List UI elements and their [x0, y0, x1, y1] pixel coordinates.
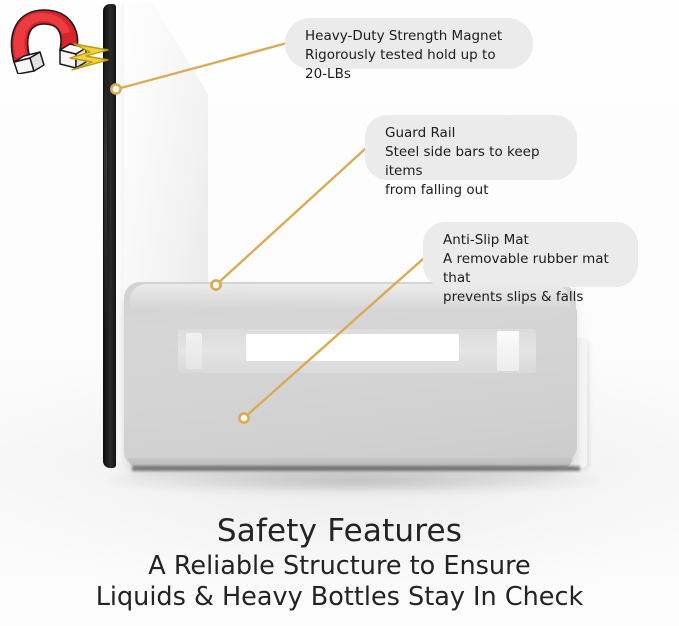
headline-subtitle-line-2: Liquids & Heavy Bottles Stay In Check: [0, 582, 679, 613]
infographic-canvas: Heavy-Duty Strength Magnet Rigorously te…: [0, 0, 679, 626]
leader-anchor-mat: [239, 413, 248, 422]
callout-magnet-desc: Rigorously tested hold up to 20-LBs: [305, 46, 513, 84]
leader-anchor-rail: [211, 280, 220, 289]
headline-title: Safety Features: [0, 512, 679, 550]
leader-anchor-magnet: [111, 84, 120, 93]
leader-line-rail: [217, 149, 365, 284]
callout-magnet-title: Heavy-Duty Strength Magnet: [305, 27, 513, 46]
callout-guard-rail: Guard Rail Steel side bars to keep items…: [365, 115, 577, 180]
callout-guard-rail-desc: Steel side bars to keep items from falli…: [385, 143, 557, 200]
leader-line-magnet: [117, 43, 287, 89]
callout-magnet: Heavy-Duty Strength Magnet Rigorously te…: [285, 18, 533, 69]
leader-line-mat: [245, 259, 423, 417]
callout-anti-slip-mat-title: Anti-Slip Mat: [443, 231, 618, 250]
callout-anti-slip-mat-desc: A removable rubber mat that prevents sli…: [443, 250, 618, 307]
headline-subtitle-line-1: A Reliable Structure to Ensure: [0, 551, 679, 582]
callout-anti-slip-mat: Anti-Slip Mat A removable rubber mat tha…: [423, 222, 638, 287]
callout-guard-rail-title: Guard Rail: [385, 124, 557, 143]
headline-block: Safety Features A Reliable Structure to …: [0, 512, 679, 613]
